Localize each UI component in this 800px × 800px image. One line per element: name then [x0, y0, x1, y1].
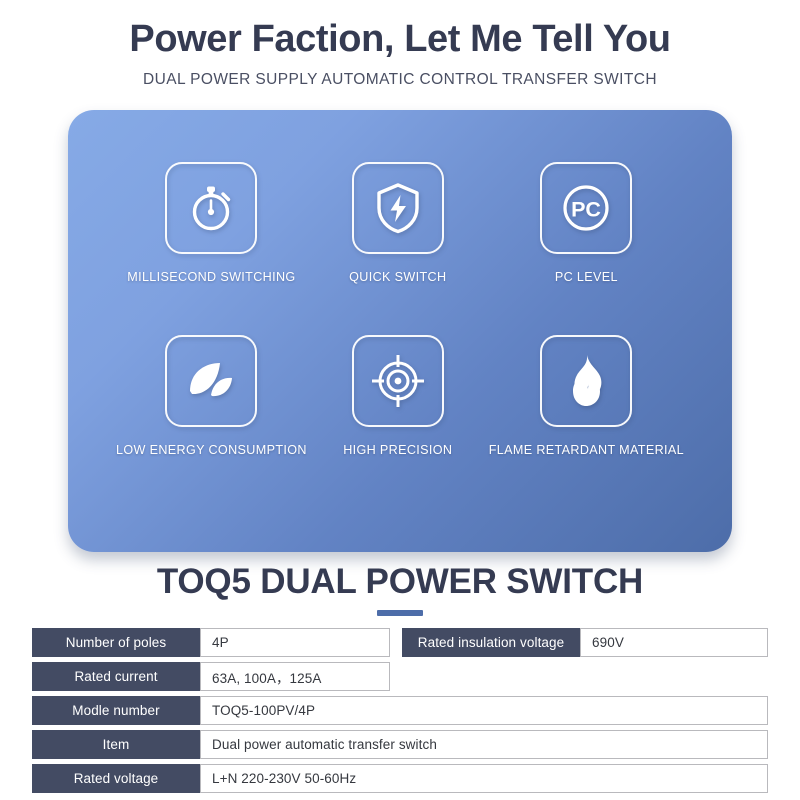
page-header: Power Faction, Let Me Tell You DUAL POWE…	[0, 0, 800, 89]
table-row: Rated current 63A, 100A，125A	[32, 662, 768, 691]
flame-icon	[561, 353, 611, 409]
crosshair-icon	[370, 353, 426, 409]
feature-tile	[165, 162, 257, 254]
feature-item-millisecond-switching: MILLISECOND SWITCHING	[116, 162, 307, 335]
feature-grid: MILLISECOND SWITCHING QUICK SWITCH PC PC…	[68, 110, 732, 552]
spec-label: Item	[32, 730, 200, 759]
spec-value: 63A, 100A，125A	[200, 662, 390, 691]
spec-value: 4P	[200, 628, 390, 657]
product-title: TOQ5 DUAL POWER SWITCH	[0, 562, 800, 602]
spec-label: Modle number	[32, 696, 200, 725]
spec-value: TOQ5-100PV/4P	[200, 696, 768, 725]
accent-divider	[377, 610, 423, 616]
feature-label: HIGH PRECISION	[343, 443, 452, 457]
feature-tile	[165, 335, 257, 427]
feature-label: QUICK SWITCH	[349, 270, 446, 284]
spec-value: L+N 220-230V 50-60Hz	[200, 764, 768, 793]
specification-table: Number of poles 4P Rated insulation volt…	[32, 628, 768, 798]
feature-tile	[352, 335, 444, 427]
leaves-icon	[182, 355, 240, 407]
feature-label: PC LEVEL	[555, 270, 618, 284]
spec-label: Rated current	[32, 662, 200, 691]
feature-label: FLAME RETARDANT MATERIAL	[489, 443, 684, 457]
feature-tile	[352, 162, 444, 254]
feature-item-pc-level: PC PC LEVEL	[489, 162, 684, 335]
spec-value-secondary: 690V	[580, 628, 768, 657]
table-row: Modle number TOQ5-100PV/4P	[32, 696, 768, 725]
spec-label: Rated voltage	[32, 764, 200, 793]
feature-label: LOW ENERGY CONSUMPTION	[116, 443, 307, 457]
spec-label: Number of poles	[32, 628, 200, 657]
table-row: Item Dual power automatic transfer switc…	[32, 730, 768, 759]
spec-label-secondary: Rated insulation voltage	[402, 628, 580, 657]
feature-item-low-energy-consumption: LOW ENERGY CONSUMPTION	[116, 335, 307, 508]
page-subtitle: DUAL POWER SUPPLY AUTOMATIC CONTROL TRAN…	[0, 71, 800, 89]
table-row: Rated voltage L+N 220-230V 50-60Hz	[32, 764, 768, 793]
feature-item-flame-retardant-material: FLAME RETARDANT MATERIAL	[489, 335, 684, 508]
feature-item-quick-switch: QUICK SWITCH	[307, 162, 489, 335]
pc-circle-icon: PC	[558, 180, 614, 236]
page-title: Power Faction, Let Me Tell You	[0, 18, 800, 62]
feature-label: MILLISECOND SWITCHING	[127, 270, 295, 284]
svg-text:PC: PC	[571, 198, 601, 222]
stopwatch-icon	[184, 181, 238, 235]
feature-panel: MILLISECOND SWITCHING QUICK SWITCH PC PC…	[68, 110, 732, 552]
feature-tile	[540, 335, 632, 427]
feature-item-high-precision: HIGH PRECISION	[307, 335, 489, 508]
table-row: Number of poles 4P Rated insulation volt…	[32, 628, 768, 657]
spec-value: Dual power automatic transfer switch	[200, 730, 768, 759]
feature-tile: PC	[540, 162, 632, 254]
shield-bolt-icon	[371, 181, 425, 235]
spec-gap	[390, 628, 402, 657]
